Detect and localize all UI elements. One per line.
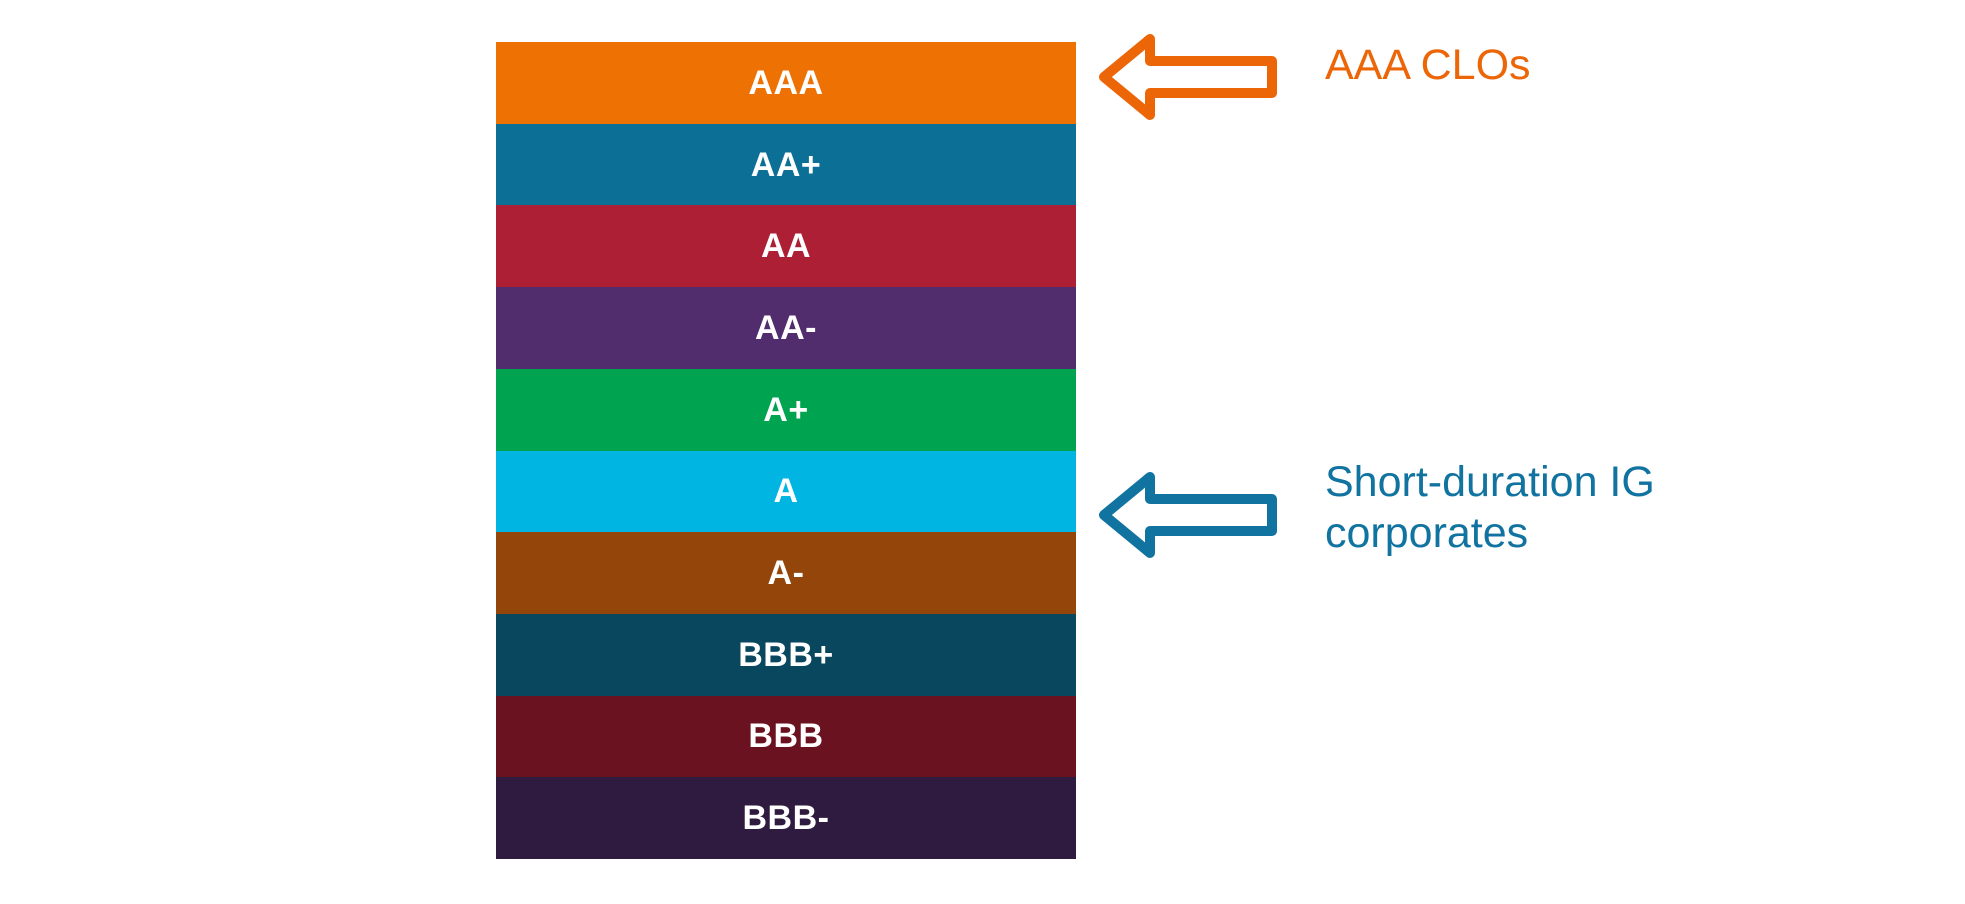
- rating-band-bbb-plus: BBB+: [496, 614, 1076, 696]
- callout-aaa-clos: AAA CLOs: [1098, 34, 1531, 120]
- arrow-left-icon: [1098, 472, 1278, 558]
- rating-band-a-minus: A-: [496, 532, 1076, 614]
- callout-aaa-clos-label: AAA CLOs: [1325, 40, 1531, 91]
- rating-band-label: AA: [761, 229, 811, 263]
- slide-canvas: AAA AA+ AA AA- A+ A A- BBB+ BBB BBB-: [0, 0, 1965, 904]
- rating-band-label: AA+: [751, 148, 821, 182]
- rating-band-bbb: BBB: [496, 696, 1076, 778]
- rating-band-label: A-: [768, 556, 805, 590]
- rating-band-label: A: [773, 474, 798, 508]
- callout-short-duration-ig: Short-duration IG corporates: [1098, 472, 1655, 558]
- rating-band-a: A: [496, 451, 1076, 533]
- rating-band-aa: AA: [496, 205, 1076, 287]
- rating-band-bbb-minus: BBB-: [496, 777, 1076, 859]
- rating-band-label: BBB: [748, 719, 823, 753]
- arrow-left-icon: [1098, 34, 1278, 120]
- rating-band-aa-plus: AA+: [496, 124, 1076, 206]
- rating-band-label: AAA: [748, 66, 823, 100]
- rating-band-a-plus: A+: [496, 369, 1076, 451]
- credit-rating-ladder: AAA AA+ AA AA- A+ A A- BBB+ BBB BBB-: [496, 42, 1076, 859]
- rating-band-label: BBB+: [738, 638, 834, 672]
- callout-short-duration-ig-label: Short-duration IG corporates: [1325, 457, 1655, 558]
- rating-band-label: A+: [763, 393, 808, 427]
- rating-band-aa-minus: AA-: [496, 287, 1076, 369]
- rating-band-label: AA-: [755, 311, 817, 345]
- rating-band-label: BBB-: [743, 801, 830, 835]
- rating-band-aaa: AAA: [496, 42, 1076, 124]
